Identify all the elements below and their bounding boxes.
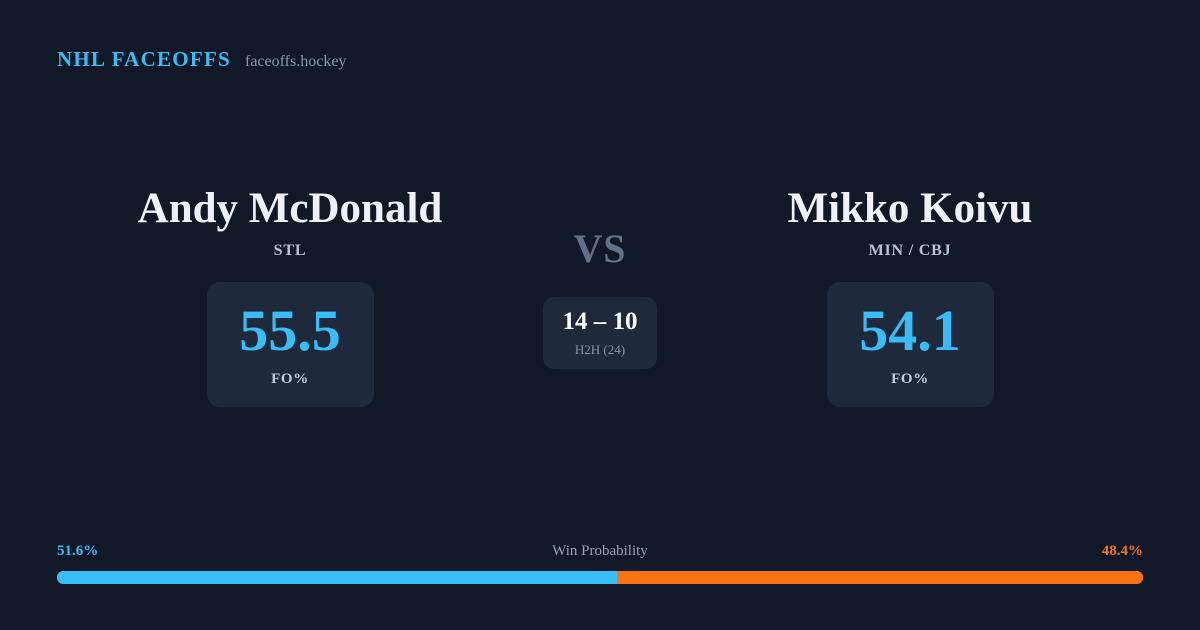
head-to-head-score: 14 – 10 [563, 309, 638, 334]
win-probability-section: 51.6% Win Probability 48.4% [57, 540, 1143, 584]
player-right-stat-label: FO% [891, 371, 929, 388]
player-right-stat-value: 54.1 [859, 302, 961, 360]
player-right-stat-card: 54.1 FO% [827, 282, 994, 407]
player-left-team: STL [274, 242, 307, 260]
brand-title: NHL FACEOFFS [57, 47, 231, 72]
player-left-name: Andy McDonald [138, 185, 443, 233]
versus-label: VS [574, 229, 627, 269]
player-right-team: MIN / CBJ [869, 242, 952, 260]
player-left: Andy McDonald STL 55.5 FO% [65, 185, 515, 407]
player-left-stat-card: 55.5 FO% [207, 282, 374, 407]
player-right-name: Mikko Koivu [788, 185, 1033, 233]
win-probability-bar-right-fill [617, 571, 1143, 584]
head-to-head-label: H2H (24) [575, 342, 625, 358]
versus-column: VS 14 – 10 H2H (24) [515, 185, 685, 369]
faceoff-matchup-card: NHL FACEOFFS faceoffs.hockey Andy McDona… [0, 0, 1200, 630]
win-probability-bar-left-fill [57, 571, 617, 584]
win-probability-title: Win Probability [57, 543, 1143, 560]
player-right: Mikko Koivu MIN / CBJ 54.1 FO% [685, 185, 1135, 407]
brand-header: NHL FACEOFFS faceoffs.hockey [57, 47, 346, 72]
head-to-head-card: 14 – 10 H2H (24) [543, 297, 657, 369]
brand-domain: faceoffs.hockey [245, 53, 346, 71]
matchup-row: Andy McDonald STL 55.5 FO% VS 14 – 10 H2… [0, 185, 1200, 407]
player-left-stat-label: FO% [271, 371, 309, 388]
win-probability-labels: 51.6% Win Probability 48.4% [57, 540, 1143, 562]
win-probability-bar [57, 571, 1143, 584]
player-left-stat-value: 55.5 [239, 302, 341, 360]
